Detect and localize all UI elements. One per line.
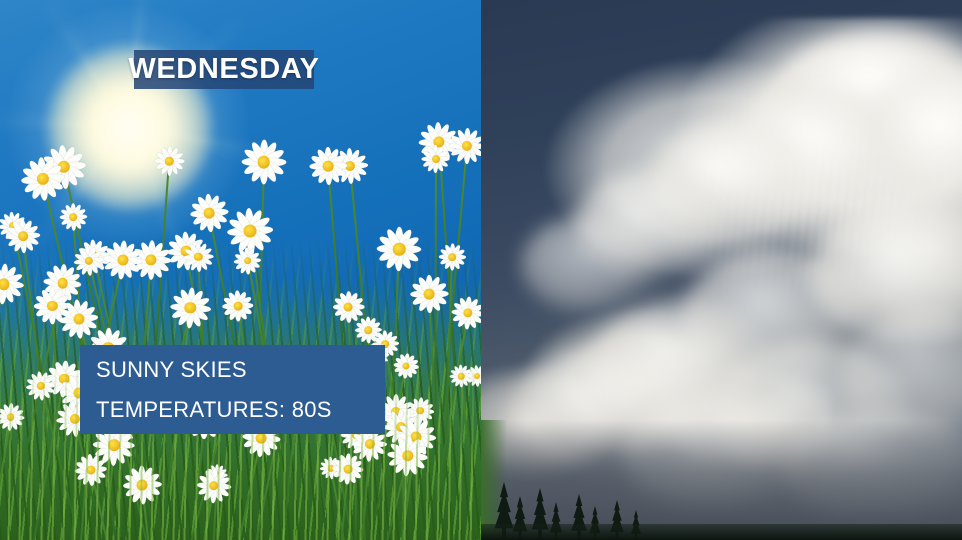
day-label-wednesday: WEDNESDAY	[134, 50, 314, 89]
forecast-panel-thursday: THURSDAY SUNNY SKIES PM STORMS TEMPERATU…	[481, 0, 962, 540]
forecast-line: SUNNY SKIES	[96, 359, 385, 381]
weather-forecast-graphic: WEDNESDAY SUNNY SKIES TEMPERATURES: 80S …	[0, 0, 962, 540]
storm-base-shadow	[481, 420, 962, 540]
ground-strip	[481, 524, 962, 540]
forecast-line: TEMPERATURES: 80S	[96, 399, 385, 421]
forecast-details-wednesday: SUNNY SKIES TEMPERATURES: 80S	[80, 345, 385, 434]
forecast-panel-wednesday: WEDNESDAY SUNNY SKIES TEMPERATURES: 80S	[0, 0, 481, 540]
